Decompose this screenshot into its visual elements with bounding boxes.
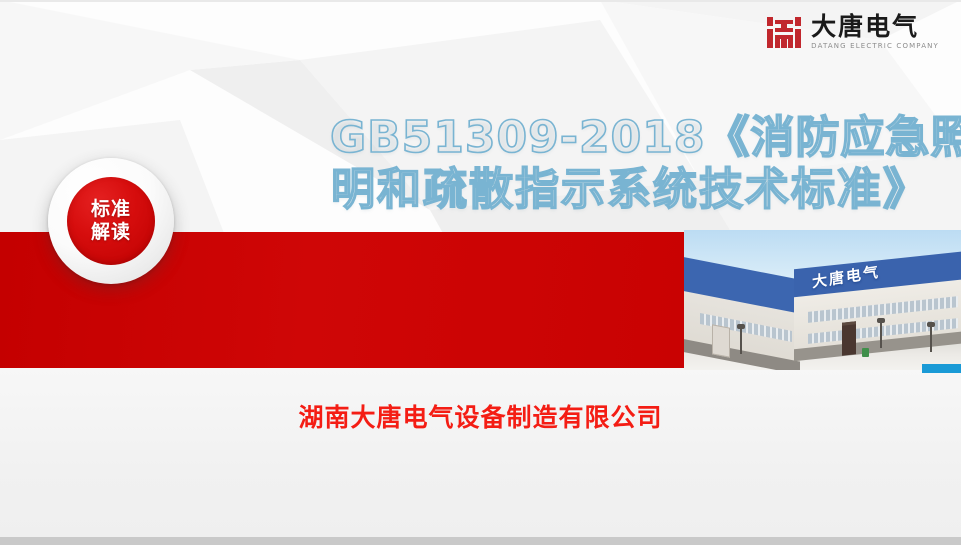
bottom-gray-bar <box>0 537 961 545</box>
presentation-slide: 大唐电气 DATANG ELECTRIC COMPANY GB51309-201… <box>0 0 961 545</box>
photo-main-door <box>842 321 856 355</box>
badge-line-2: 解读 <box>91 221 131 244</box>
company-name: 湖南大唐电气设备制造有限公司 <box>0 398 961 434</box>
photo-lamp-post-3 <box>930 326 932 352</box>
photo-lamp-post-1 <box>740 328 742 354</box>
blue-accent-bar <box>922 364 961 373</box>
logo-english-name: DATANG ELECTRIC COMPANY <box>811 43 939 50</box>
lower-background-wash <box>0 368 961 537</box>
slide-title: GB51309-2018《消防应急照 明和疏散指示系统技术标准》 <box>330 112 930 216</box>
photo-side-door <box>712 324 730 357</box>
logo-chinese-name: 大唐电气 <box>811 14 939 39</box>
photo-lamp-post-2 <box>880 322 882 348</box>
datang-seal-emblem-icon <box>766 16 802 49</box>
company-logo: 大唐电气 DATANG ELECTRIC COMPANY <box>766 14 939 50</box>
logo-wordmark: 大唐电气 DATANG ELECTRIC COMPANY <box>811 14 939 50</box>
title-line-1: GB51309-2018《消防应急照 <box>330 112 930 164</box>
standard-interpretation-badge: 标准 解读 <box>48 158 174 284</box>
badge-red-core: 标准 解读 <box>67 177 155 265</box>
top-hairline <box>0 0 961 2</box>
title-line-2: 明和疏散指示系统技术标准》 <box>330 164 930 216</box>
badge-line-1: 标准 <box>91 198 131 221</box>
photo-trash-bin <box>862 348 869 357</box>
factory-building-photo: 大唐电气 <box>684 230 961 370</box>
